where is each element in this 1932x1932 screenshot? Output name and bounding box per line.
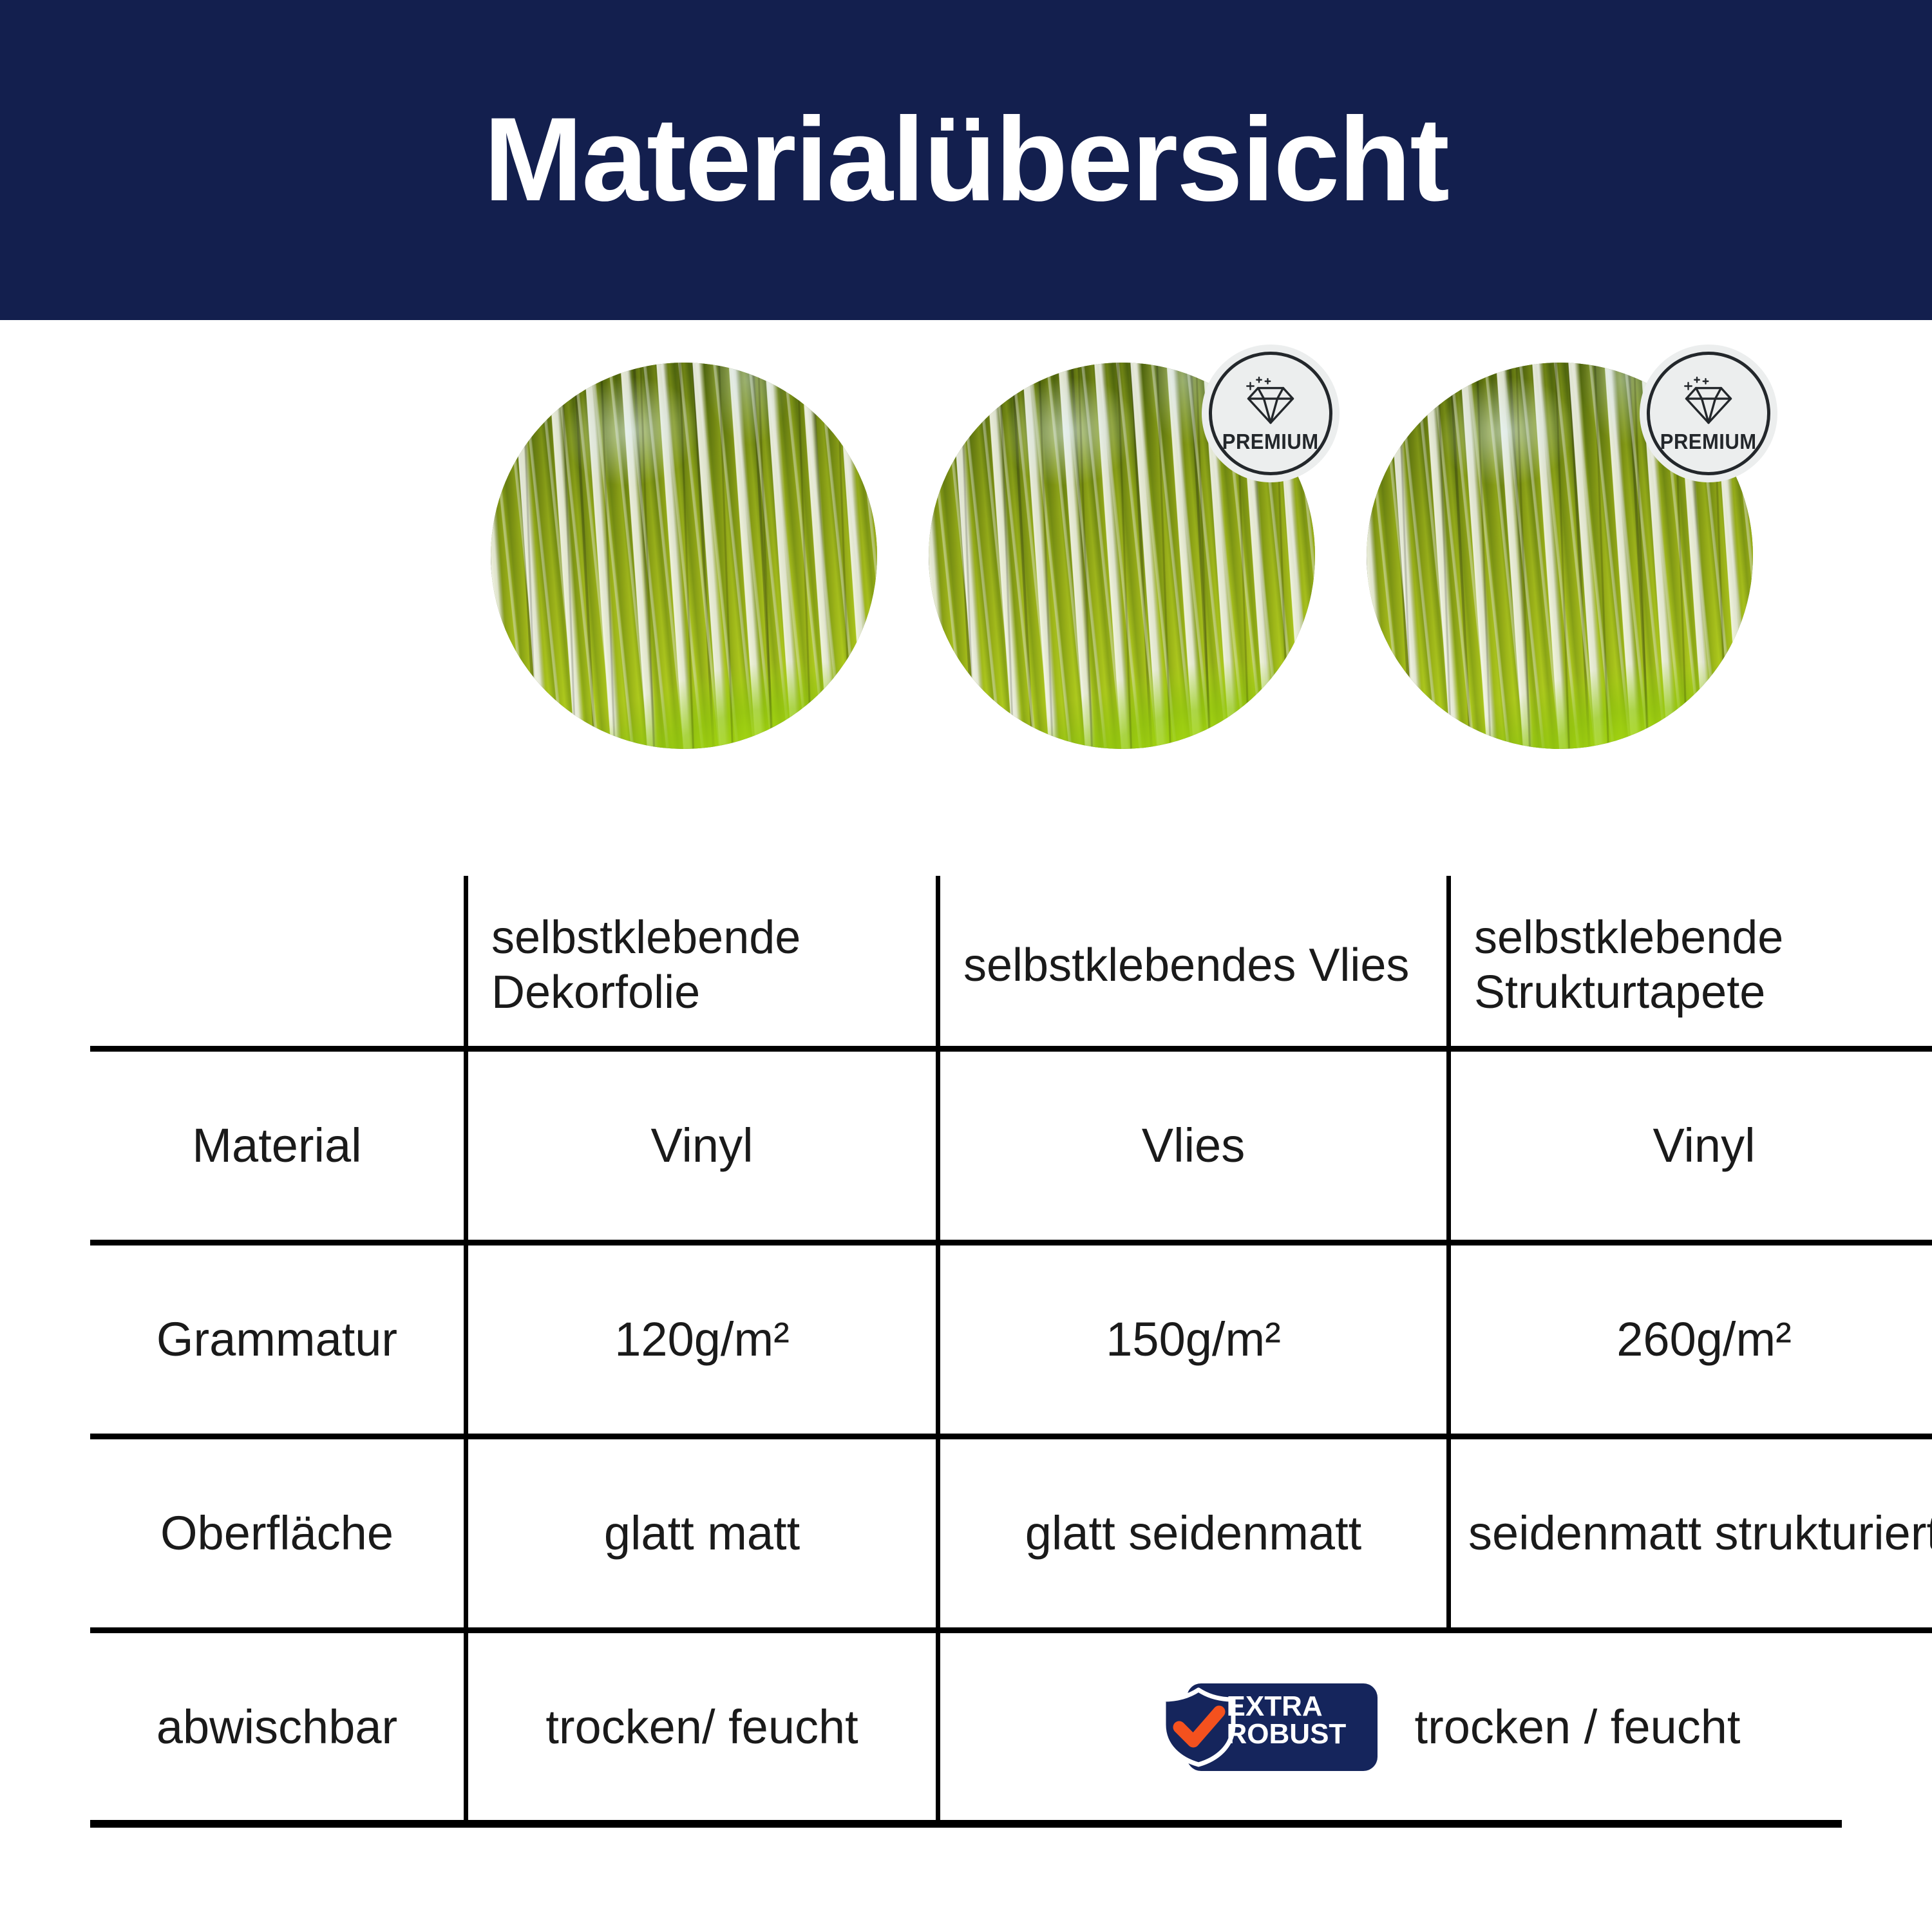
preview-strukturtapete[interactable]: PREMIUM [1367, 363, 1753, 749]
premium-badge: PREMIUM [1640, 345, 1777, 482]
extra-robust-line2: ROBUST [1227, 1720, 1374, 1748]
table-row: abwischbar trocken/ feucht EXTRA ROBUST [90, 1631, 1932, 1822]
premium-badge-inner: PREMIUM [1209, 352, 1332, 475]
material-spec-table: selbstklebende Dekorfolie selbstklebende… [90, 876, 1932, 1821]
cell-grammatur-vlies: 150g/m² [938, 1243, 1449, 1437]
preview-dekorfolie[interactable] [491, 363, 877, 749]
column-header-strukturtapete: selbstklebende Strukturtapete [1449, 876, 1932, 1049]
header-bar: Materialübersicht [0, 0, 1932, 320]
table-header-row: selbstklebende Dekorfolie selbstklebende… [90, 876, 1932, 1049]
diamond-icon [1678, 375, 1739, 426]
extra-robust-line1: EXTRA [1227, 1692, 1374, 1720]
cell-material-strukturtapete: Vinyl [1449, 1049, 1932, 1243]
cell-grammatur-strukturtapete: 260g/m² [1449, 1243, 1932, 1437]
row-label-grammatur: Grammatur [90, 1243, 466, 1437]
cell-oberflaeche-dekorfolie: glatt matt [466, 1437, 938, 1631]
row-label-abwischbar: abwischbar [90, 1631, 466, 1822]
cell-abwischbar-merged-text: trocken / feucht [1415, 1699, 1741, 1755]
cell-material-vlies: Vlies [938, 1049, 1449, 1243]
row-label-material: Material [90, 1049, 466, 1243]
premium-badge-label: PREMIUM [1222, 430, 1319, 454]
cell-material-dekorfolie: Vinyl [466, 1049, 938, 1243]
table-row: Grammatur 120g/m² 150g/m² 260g/m² [90, 1243, 1932, 1437]
page-title: Materialübersicht [484, 100, 1448, 220]
table-row: Material Vinyl Vlies Vinyl [90, 1049, 1932, 1243]
cell-grammatur-dekorfolie: 120g/m² [466, 1243, 938, 1437]
extra-robust-badge: EXTRA ROBUST [1157, 1683, 1378, 1771]
premium-badge-label: PREMIUM [1660, 430, 1757, 454]
column-header-vlies: selbstklebendes Vlies [938, 876, 1449, 1049]
birch-forest-illustration [491, 363, 877, 749]
forest-image-1 [491, 363, 877, 749]
preview-circles-row: PREMIUM [0, 356, 1932, 755]
cell-abwischbar-merged: EXTRA ROBUST trocken / feucht [938, 1631, 1932, 1822]
column-header-dekorfolie: selbstklebende Dekorfolie [466, 876, 938, 1049]
preview-vlies[interactable]: PREMIUM [929, 363, 1315, 749]
header-empty-cell [90, 876, 466, 1049]
table-row: Oberfläche glatt matt glatt seidenmatt s… [90, 1437, 1932, 1631]
premium-badge-inner: PREMIUM [1647, 352, 1770, 475]
premium-badge: PREMIUM [1202, 345, 1340, 482]
cell-oberflaeche-vlies: glatt seidenmatt [938, 1437, 1449, 1631]
cell-abwischbar-dekorfolie: trocken/ feucht [466, 1631, 938, 1822]
cell-oberflaeche-strukturtapete: seidenmatt strukturiert [1449, 1437, 1932, 1631]
table-bottom-rule [90, 1820, 1842, 1828]
extra-robust-label: EXTRA ROBUST [1227, 1692, 1374, 1748]
row-label-oberflaeche: Oberfläche [90, 1437, 466, 1631]
diamond-icon [1240, 375, 1302, 426]
